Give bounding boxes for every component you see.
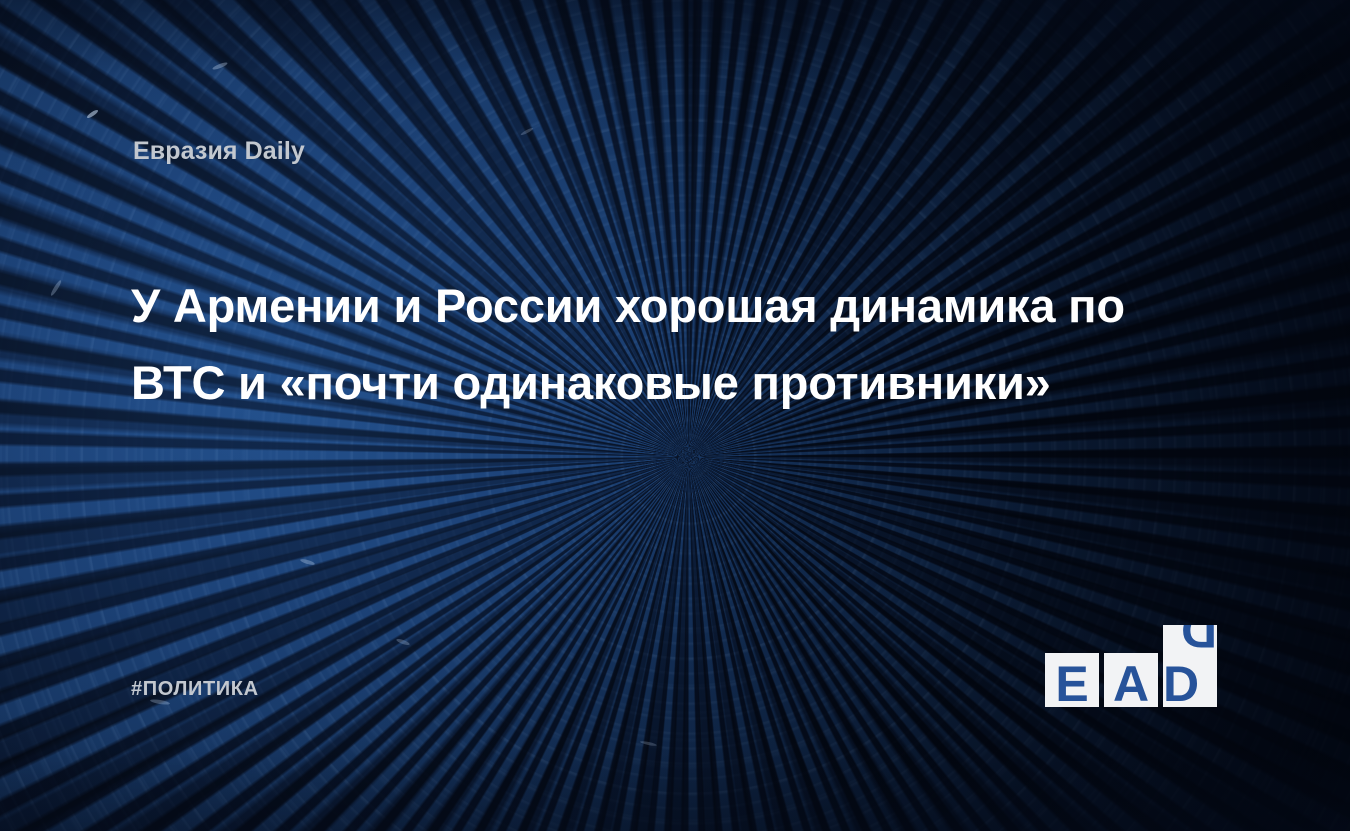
logo-letter-e: E <box>1045 659 1099 709</box>
category-tag[interactable]: #ПОЛИТИКА <box>131 678 259 701</box>
logo-letter-d-bottom: D <box>1163 659 1208 707</box>
card-content: Евразия Daily У Армении и России хорошая… <box>0 0 1350 831</box>
headline-title: У Армении и России хорошая динамика по В… <box>131 267 1221 421</box>
news-card: Евразия Daily У Армении и России хорошая… <box>0 0 1350 831</box>
brand-name: Евразия Daily <box>133 137 305 166</box>
logo-letter-d-bottom-clip: D <box>1163 653 1217 707</box>
eadaily-logo[interactable]: E A D D <box>1045 625 1221 707</box>
logo-letter-d-top-clip: D <box>1163 625 1217 653</box>
logo-letter-d-top: D <box>1172 625 1217 653</box>
logo-letter-a: A <box>1104 659 1158 709</box>
